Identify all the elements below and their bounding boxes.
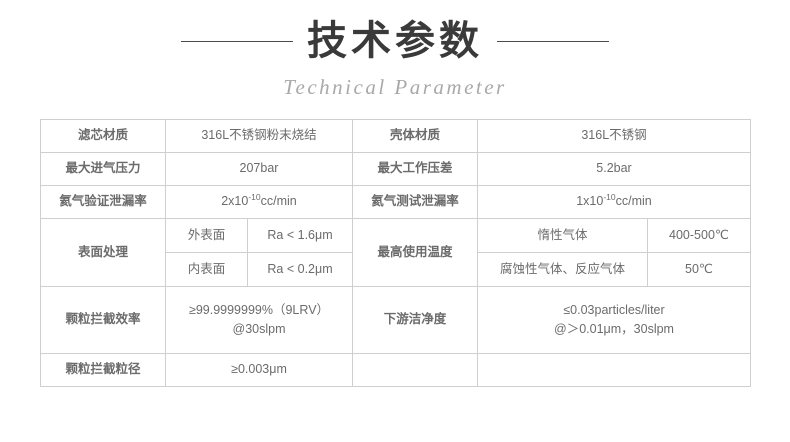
row-label-max-inlet-pressure: 最大进气压力	[41, 153, 166, 186]
leak-rate-base: 1x10	[576, 194, 603, 208]
row-label-housing-material: 壳体材质	[353, 120, 478, 153]
row-value-outer-surface: Ra < 1.6μm	[248, 219, 353, 253]
row-label-filter-material: 滤芯材质	[41, 120, 166, 153]
row-value-helium-verification-leak-rate: 2x10-10cc/min	[166, 186, 353, 219]
cleanliness-line-1: ≤0.03particles/liter	[484, 301, 744, 320]
table-row: 最大进气压力 207bar 最大工作压差 5.2bar	[41, 153, 751, 186]
efficiency-line-2: @30slpm	[172, 320, 346, 339]
leak-rate-base: 2x10	[221, 194, 248, 208]
row-label-downstream-cleanliness: 下游洁净度	[353, 287, 478, 354]
row-value-helium-test-leak-rate: 1x10-10cc/min	[478, 186, 751, 219]
row-label-surface-treatment: 表面处理	[41, 219, 166, 287]
row-value-empty	[478, 354, 751, 387]
table-row: 氦气验证泄漏率 2x10-10cc/min 氦气测试泄漏率 1x10-10cc/…	[41, 186, 751, 219]
row-label-max-working-differential: 最大工作压差	[353, 153, 478, 186]
table-row: 表面处理 外表面 Ra < 1.6μm 最高使用温度 惰性气体 400-500℃	[41, 219, 751, 253]
row-value-housing-material: 316L不锈钢	[478, 120, 751, 153]
row-value-downstream-cleanliness: ≤0.03particles/liter @＞0.01μm，30slpm	[478, 287, 751, 354]
row-label-empty	[353, 354, 478, 387]
page-subtitle: Technical Parameter	[0, 77, 790, 98]
table-row: 颗粒拦截粒径 ≥0.003μm	[41, 354, 751, 387]
table-row: 颗粒拦截效率 ≥99.9999999%（9LRV） @30slpm 下游洁净度 …	[41, 287, 751, 354]
leak-rate-exponent: -10	[603, 192, 615, 202]
row-value-corrosive-gas-temperature: 50℃	[648, 253, 751, 287]
row-label-particle-retention-size: 颗粒拦截粒径	[41, 354, 166, 387]
sub-label-inert-gas: 惰性气体	[478, 219, 648, 253]
row-value-inner-surface: Ra < 0.2μm	[248, 253, 353, 287]
row-value-particle-retention-size: ≥0.003μm	[166, 354, 353, 387]
sub-label-inner-surface: 内表面	[166, 253, 248, 287]
cleanliness-line-2: @＞0.01μm，30slpm	[484, 320, 744, 339]
table-row: 滤芯材质 316L不锈钢粉末烧结 壳体材质 316L不锈钢	[41, 120, 751, 153]
title-row: 技术参数	[0, 14, 790, 68]
row-value-max-inlet-pressure: 207bar	[166, 153, 353, 186]
row-label-helium-test-leak-rate: 氦气测试泄漏率	[353, 186, 478, 219]
spec-table-wrapper: 滤芯材质 316L不锈钢粉末烧结 壳体材质 316L不锈钢 最大进气压力 207…	[40, 119, 750, 387]
title-rule-left	[181, 41, 293, 42]
leak-rate-exponent: -10	[248, 192, 260, 202]
row-value-inert-gas-temperature: 400-500℃	[648, 219, 751, 253]
sub-label-corrosive-gas: 腐蚀性气体、反应气体	[478, 253, 648, 287]
efficiency-line-1: ≥99.9999999%（9LRV）	[172, 301, 346, 320]
title-rule-right	[497, 41, 609, 42]
sub-label-outer-surface: 外表面	[166, 219, 248, 253]
row-label-max-operating-temperature: 最高使用温度	[353, 219, 478, 287]
spec-table: 滤芯材质 316L不锈钢粉末烧结 壳体材质 316L不锈钢 最大进气压力 207…	[40, 119, 751, 387]
leak-rate-unit: cc/min	[261, 194, 297, 208]
leak-rate-unit: cc/min	[616, 194, 652, 208]
row-label-helium-verification-leak-rate: 氦气验证泄漏率	[41, 186, 166, 219]
row-value-max-working-differential: 5.2bar	[478, 153, 751, 186]
row-value-filter-material: 316L不锈钢粉末烧结	[166, 120, 353, 153]
row-label-particle-retention-efficiency: 颗粒拦截效率	[41, 287, 166, 354]
page-header: 技术参数 Technical Parameter	[0, 0, 790, 98]
page-title: 技术参数	[307, 21, 483, 61]
row-value-particle-retention-efficiency: ≥99.9999999%（9LRV） @30slpm	[166, 287, 353, 354]
